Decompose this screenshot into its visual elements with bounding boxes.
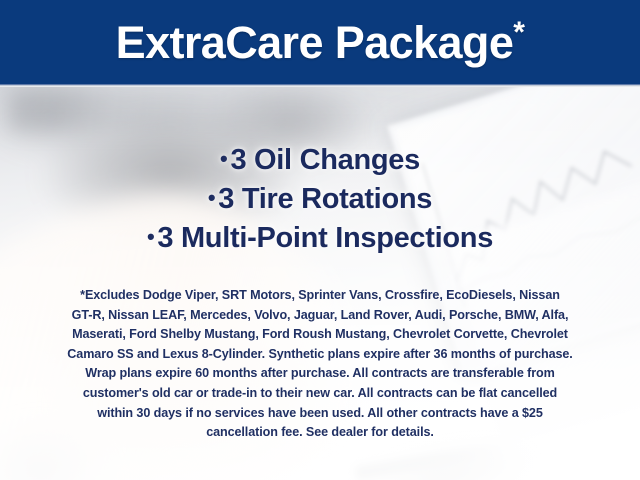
extracare-package-ad: ExtraCare Package* •3 Oil Changes •3 Tir… — [0, 0, 640, 480]
benefits-list: •3 Oil Changes •3 Tire Rotations •3 Mult… — [0, 140, 640, 257]
list-item-label: 3 Oil Changes — [230, 144, 420, 176]
header-divider — [0, 84, 640, 87]
list-item: •3 Oil Changes — [0, 140, 640, 179]
bullet-dot-icon: • — [220, 146, 230, 171]
disclaimer-line: customer's old car or trade-in to their … — [28, 384, 612, 404]
disclaimer-line: GT-R, Nissan LEAF, Mercedes, Volvo, Jagu… — [28, 306, 612, 326]
disclaimer-line: Maserati, Ford Shelby Mustang, Ford Rous… — [28, 325, 612, 345]
list-item-label: 3 Tire Rotations — [218, 183, 432, 215]
list-item: •3 Multi-Point Inspections — [0, 218, 640, 257]
disclaimer-line: Wrap plans expire 60 months after purcha… — [28, 364, 612, 384]
page-title: ExtraCare Package* — [0, 18, 640, 68]
list-item-label: 3 Multi-Point Inspections — [157, 222, 493, 254]
bullet-dot-icon: • — [147, 224, 157, 249]
bullet-dot-icon: • — [208, 185, 218, 210]
page-title-asterisk: * — [513, 16, 524, 49]
disclaimer-line: within 30 days if no services have been … — [28, 404, 612, 424]
list-item: •3 Tire Rotations — [0, 179, 640, 218]
disclaimer-text: *Excludes Dodge Viper, SRT Motors, Sprin… — [28, 286, 612, 443]
disclaimer-line: Camaro SS and Lexus 8-Cylinder. Syntheti… — [28, 345, 612, 365]
disclaimer-line: *Excludes Dodge Viper, SRT Motors, Sprin… — [28, 286, 612, 306]
page-title-text: ExtraCare Package — [116, 17, 514, 68]
disclaimer-line: cancellation fee. See dealer for details… — [28, 423, 612, 443]
